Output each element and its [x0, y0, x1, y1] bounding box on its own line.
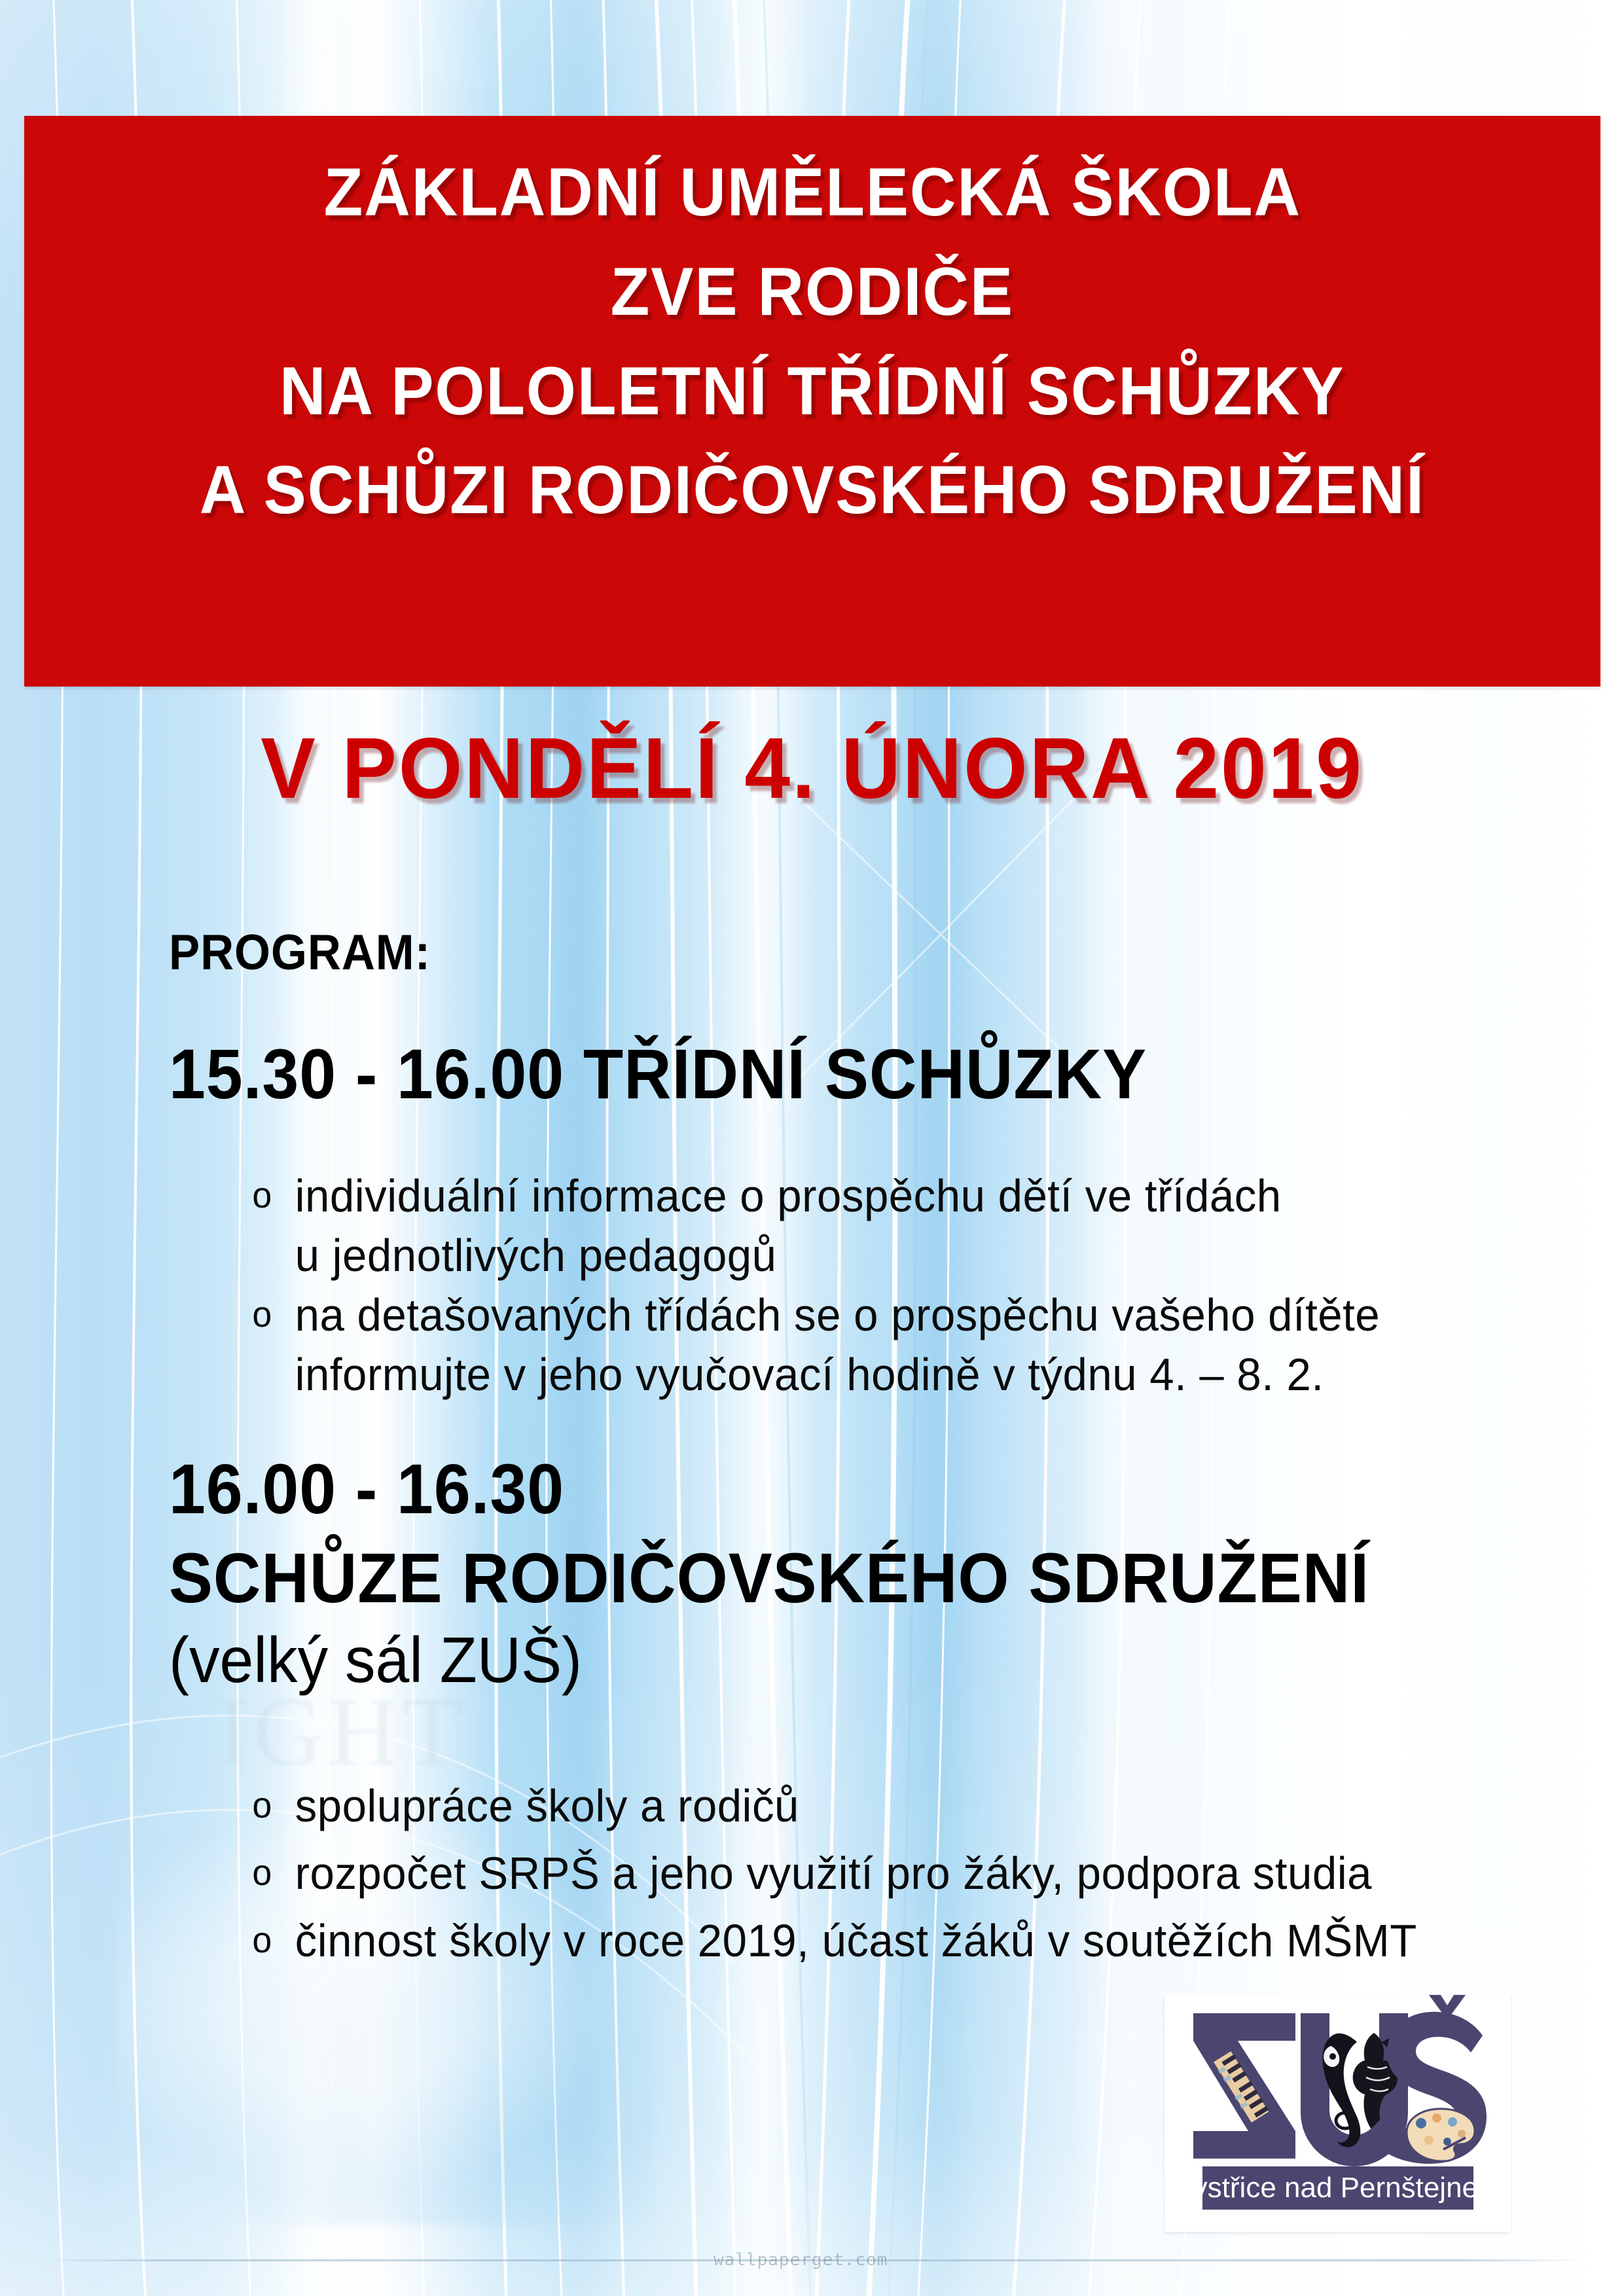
list-item: o rozpočet SRPŠ a jeho využití pro žáky,… — [242, 1844, 1417, 1903]
source-watermark: wallpaperget.com — [713, 2250, 888, 2270]
slot-2-bullet-list: o spolupráce školy a rodičů o rozpočet S… — [242, 1776, 1466, 1979]
program-content: PROGRAM: 15.30 - 16.00 TŘÍDNÍ SCHŮZKY o … — [0, 0, 1624, 2296]
list-item-line-1: na detašovaných třídách se o prospěchu v… — [295, 1289, 1380, 1340]
list-item: o činnost školy v roce 2019, účast žáků … — [242, 1911, 1417, 1971]
list-item: o na detašovaných třídách se o prospěchu… — [242, 1285, 1380, 1405]
slot-2-time: 16.00 - 16.30 — [169, 1448, 564, 1530]
bullet-marker-icon: o — [252, 1287, 272, 1340]
slot-1-bullet-list: o individuální informace o prospěchu dět… — [242, 1166, 1428, 1405]
list-item-line-1: spolupráce školy a rodičů — [295, 1780, 799, 1831]
list-item-line-1: individuální informace o prospěchu dětí … — [295, 1170, 1282, 1221]
list-item-line-1: rozpočet SRPŠ a jeho využití pro žáky, p… — [295, 1848, 1372, 1899]
list-item-line-1: činnost školy v roce 2019, účast žáků v … — [295, 1915, 1417, 1966]
bullet-marker-icon: o — [252, 1168, 272, 1221]
bullet-marker-icon: o — [252, 1778, 272, 1831]
list-item: o spolupráce školy a rodičů — [242, 1776, 1417, 1836]
slot-2-title: SCHŮZE RODIČOVSKÉHO SDRUŽENÍ — [169, 1537, 1369, 1619]
program-label: PROGRAM: — [169, 924, 431, 981]
zus-logo: Bystřice nad Pernštejnem — [1164, 1995, 1511, 2232]
logo-town-banner: Bystřice nad Pernštejnem — [1174, 2166, 1502, 2210]
bullet-marker-icon: o — [252, 1913, 272, 1966]
list-item: o individuální informace o prospěchu dět… — [242, 1166, 1380, 1285]
bullet-marker-icon: o — [252, 1846, 272, 1899]
list-item-line-2: informujte v jeho vyučovací hodině v týd… — [295, 1345, 1380, 1405]
poster-canvas: IGHT ZÁKLADNÍ UMĚLECKÁ ŠKOLA ZVE RODIČE … — [0, 0, 1624, 2296]
list-item-line-2: u jednotlivých pedagogů — [295, 1226, 1380, 1285]
slot-1-heading: 15.30 - 16.00 TŘÍDNÍ SCHŮZKY — [169, 1033, 1147, 1115]
slot-2-place: (velký sál ZUŠ) — [169, 1623, 582, 1697]
logo-town-label: Bystřice nad Pernštejnem — [1174, 2172, 1502, 2204]
